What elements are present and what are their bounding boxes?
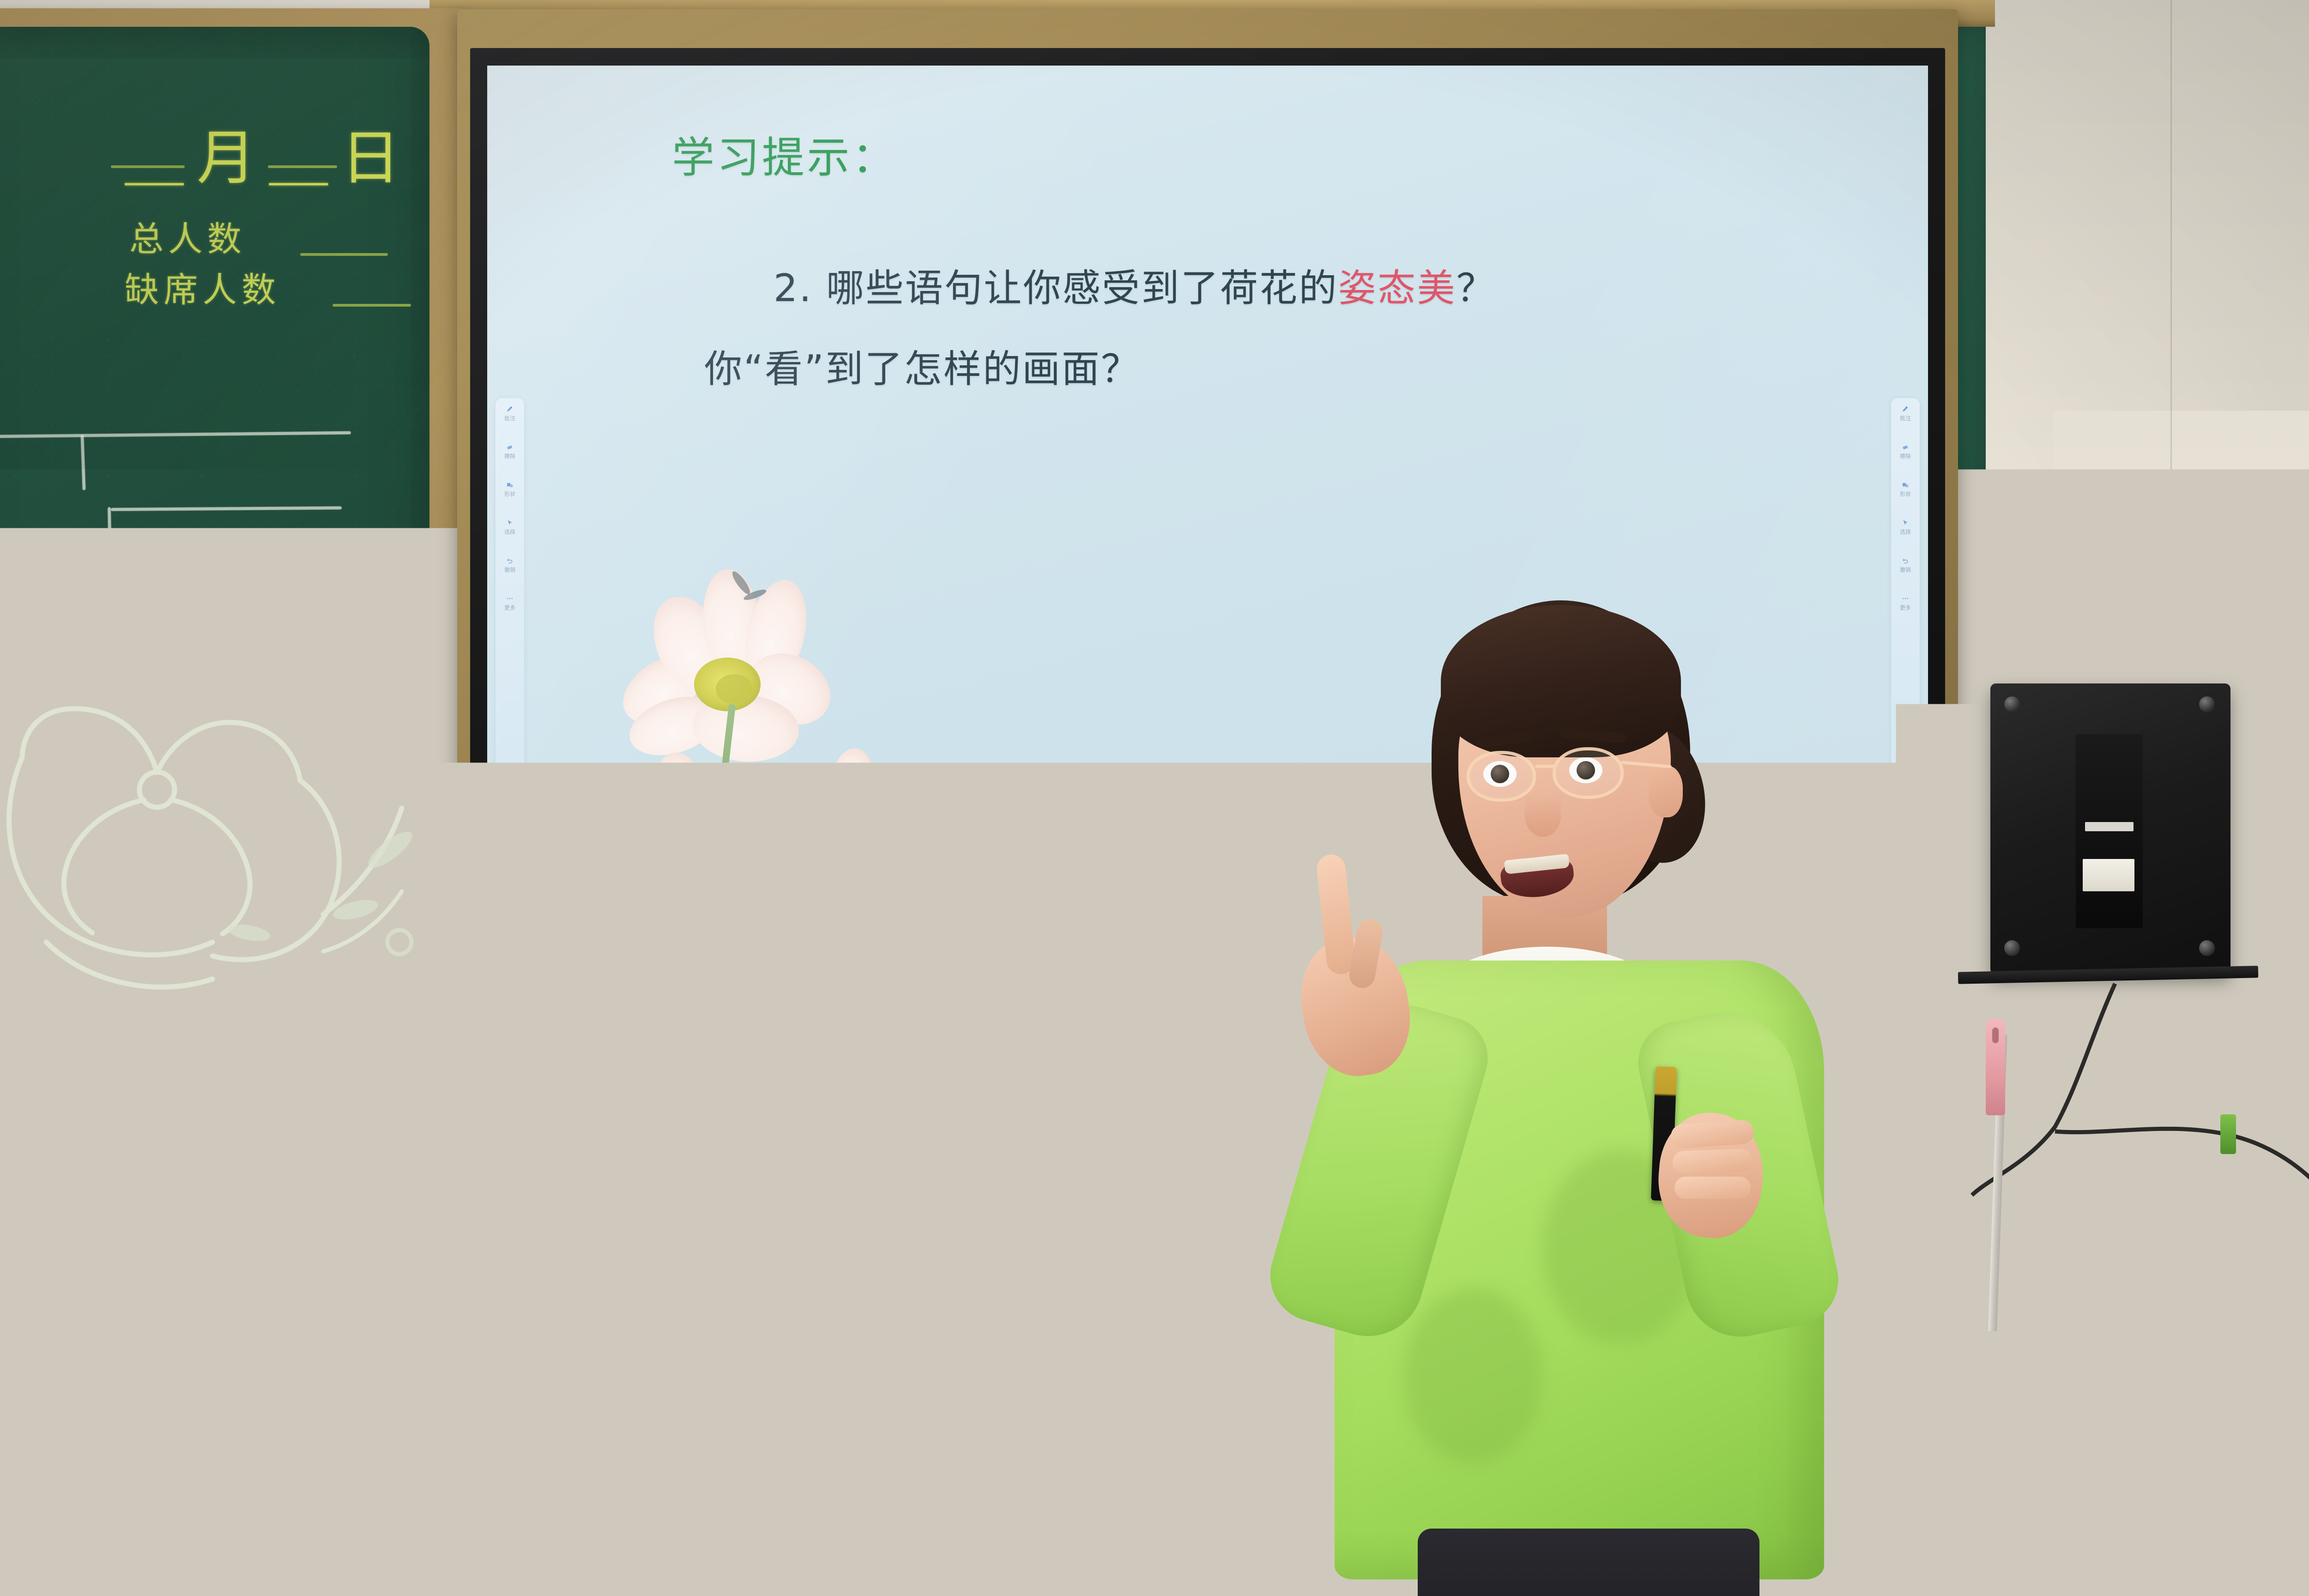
wall-hook	[2220, 1114, 2236, 1154]
panel-indicator	[1126, 999, 1132, 1005]
menu-button[interactable]	[1105, 963, 1116, 974]
student-uniform	[120, 1464, 637, 1596]
under-panel-logo: MAXHUB	[1159, 973, 1218, 988]
question-1-highlight: 姿态美	[1338, 266, 1457, 310]
eraser-label: 擦除	[504, 452, 515, 460]
speaker-vent-slot	[2085, 822, 2134, 831]
teacher-nose	[1525, 794, 1561, 837]
whiteboard-brand-label: 希沃 SeeWo	[1153, 937, 1231, 954]
teacher-trousers	[1418, 1529, 1759, 1596]
volume-down-button[interactable]	[1159, 963, 1170, 974]
blackboard-row-absent-label: 缺席人数	[125, 262, 280, 312]
undo-label: 撤销	[504, 566, 515, 574]
shapes-label: 形状	[1900, 490, 1911, 498]
select-label: 选择	[1900, 528, 1911, 536]
wainscot-seam	[1131, 1122, 1133, 1596]
speaker-spec-label	[2083, 859, 2134, 891]
eraser-icon[interactable]: 擦除	[501, 443, 519, 460]
chalk-underline	[111, 165, 185, 168]
slide-lotus-artwork	[593, 555, 1055, 925]
shapes-icon[interactable]: 形状	[1896, 481, 1915, 498]
panel-indicator	[1108, 999, 1114, 1005]
more-label: 更多	[504, 604, 515, 611]
power-button[interactable]	[1186, 963, 1197, 974]
undo-icon[interactable]: 撤销	[1896, 557, 1915, 574]
speaker-screw	[2004, 940, 2020, 956]
blackboard-row-total-label: 总人数	[129, 212, 246, 261]
question-1-mark: ？	[1457, 266, 1496, 310]
eraser-icon[interactable]: 擦除	[1896, 443, 1915, 460]
hdmi-port[interactable]	[623, 995, 637, 1009]
speaker-screw	[2199, 696, 2215, 712]
source-button[interactable]	[1132, 963, 1143, 974]
shapes-label: 形状	[504, 490, 515, 498]
speaker-screw	[2199, 940, 2215, 956]
audio-port[interactable]	[646, 995, 651, 1009]
student-right-edge	[2161, 1353, 2309, 1596]
blackboard-chalk-tray	[0, 1076, 485, 1104]
back-button[interactable]	[1267, 963, 1278, 974]
student-uniform	[0, 1482, 115, 1596]
undo-label: 撤销	[1900, 566, 1911, 574]
whiteboard-toolbar-left[interactable]: 批注 擦除 形状 选择 撤销	[496, 398, 524, 804]
teacher-ear	[1649, 766, 1683, 817]
slide-question-line-1: 2. 哪些语句让你感受到了荷花的姿态美？	[774, 257, 1496, 312]
whiteboard-control-panel[interactable]	[1053, 988, 1270, 1016]
volume-up-button[interactable]	[1213, 963, 1224, 974]
slide-question-line-2: 你“看”到了怎样的画面？	[704, 338, 1140, 393]
usb-port[interactable]	[592, 995, 599, 1009]
chalk-underline	[268, 165, 337, 168]
student-left-edge	[0, 1367, 106, 1596]
shapes-icon[interactable]: 形状	[501, 481, 519, 498]
student-front-center	[175, 1145, 628, 1596]
pen-icon[interactable]: 批注	[501, 405, 519, 422]
whiteboard-brand-plate: 希沃 SeeWo	[1071, 933, 1312, 957]
teacher-finger	[1674, 1177, 1751, 1199]
classroom-photo: ＿月＿日 总人数 缺席人数	[0, 0, 2309, 1596]
panel-indicator	[1162, 999, 1168, 1005]
eyeglasses-bridge	[1535, 765, 1555, 768]
chalk-underline	[332, 304, 411, 307]
usb-port[interactable]	[573, 995, 580, 1009]
mop-hang-hole	[1992, 1028, 1999, 1043]
select-label: 选择	[504, 528, 515, 536]
speaker-mount-bracket	[2076, 734, 2143, 928]
eyeglasses-lens-right	[1553, 747, 1624, 799]
undo-icon[interactable]: 撤销	[501, 557, 519, 574]
teacher	[1284, 596, 1986, 1596]
pen-label: 批注	[1900, 414, 1911, 422]
student-ear-left	[1972, 1395, 2007, 1459]
student-ear-left	[207, 1307, 248, 1381]
chalk-lotus-drawing	[0, 591, 462, 1007]
question-1-text: 2. 哪些语句让你感受到了荷花的	[774, 266, 1338, 310]
eraser-label: 擦除	[1900, 452, 1911, 460]
chalk-underline	[300, 253, 388, 256]
select-icon[interactable]: 选择	[501, 519, 519, 536]
teacher-finger	[1672, 1149, 1753, 1174]
panel-indicator	[1180, 999, 1186, 1005]
more-icon[interactable]: 更多	[501, 595, 519, 611]
student-ear-right	[461, 1316, 500, 1385]
pen-icon[interactable]: 批注	[1896, 405, 1915, 422]
blackboard-date-line: ＿月＿日	[125, 110, 411, 195]
slide-title: 学习提示：	[672, 123, 897, 185]
panel-indicator	[1144, 999, 1150, 1005]
pen-label: 批注	[504, 414, 515, 422]
home-button[interactable]	[1240, 963, 1251, 974]
select-icon[interactable]: 选择	[1896, 519, 1915, 536]
speaker-screw	[2004, 696, 2020, 712]
wall-mounted-speaker	[1990, 683, 2230, 974]
